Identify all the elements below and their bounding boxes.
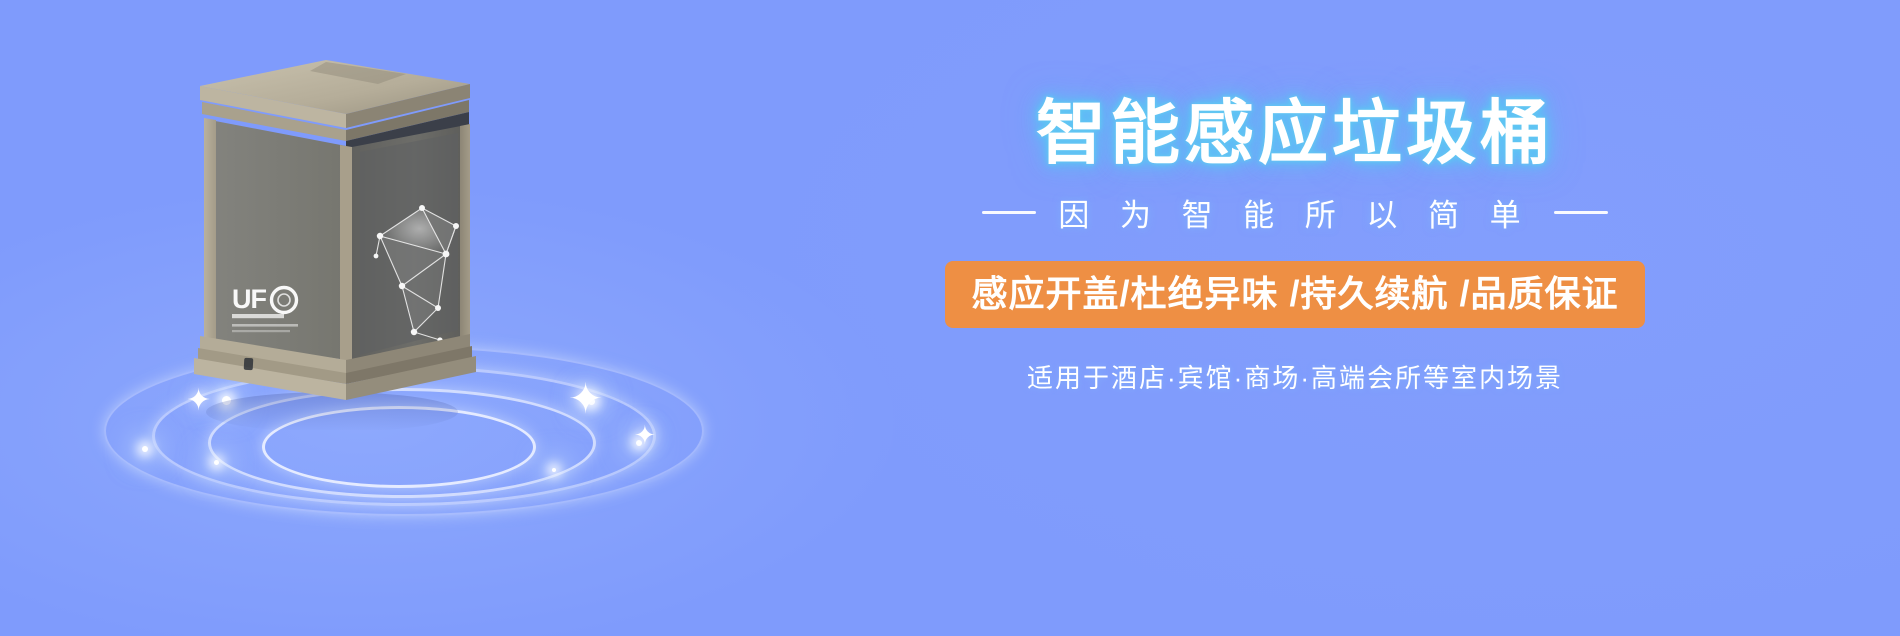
rule-left-icon — [982, 211, 1036, 214]
copy-block: 智能感应垃圾桶 因 为 智 能 所 以 简 单 感应开盖/杜绝异味 /持久续航 … — [740, 96, 1850, 395]
tagline: 因 为 智 能 所 以 简 单 — [1058, 190, 1531, 235]
feature-badge-row: 感应开盖/杜绝异味 /持久续航 /品质保证 — [740, 261, 1850, 328]
starburst-icon: ✦ — [568, 378, 603, 420]
rule-right-icon — [1554, 211, 1608, 214]
feature-badge: 感应开盖/杜绝异味 /持久续航 /品质保证 — [945, 261, 1644, 328]
sparkle-icon — [142, 446, 148, 452]
promo-banner: ✦ ✦ ✦ — [0, 0, 1900, 636]
svg-text:UF: UF — [232, 284, 266, 314]
starburst-icon: ✦ — [634, 422, 656, 448]
page-title: 智能感应垃圾桶 — [740, 96, 1850, 172]
sparkle-icon — [552, 468, 556, 472]
tagline-row: 因 为 智 能 所 以 简 单 — [740, 190, 1850, 235]
sparkle-icon — [214, 460, 219, 465]
product-stage: ✦ ✦ ✦ — [60, 20, 740, 540]
use-scenes-text: 适用于酒店·宾馆·商场·高端会所等室内场景 — [740, 358, 1850, 395]
product-image-smart-trash-bin: UF — [170, 40, 490, 430]
